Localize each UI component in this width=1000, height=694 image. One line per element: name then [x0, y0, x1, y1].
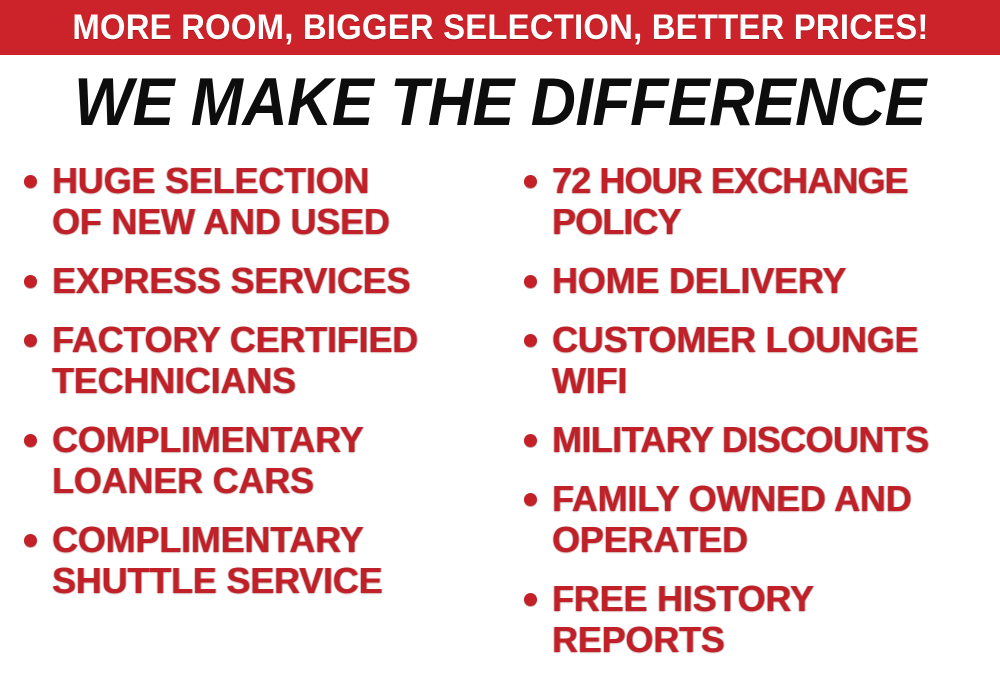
bullet-dot-icon [24, 275, 37, 288]
list-item: COMPLIMENTARY LOANER CARS [18, 419, 498, 501]
list-item: 72 HOUR EXCHANGE POLICY [518, 160, 1000, 242]
bullet-dot-icon [524, 334, 537, 347]
list-item-label: COMPLIMENTARY [52, 519, 498, 560]
benefits-column-left: HUGE SELECTION OF NEW AND USED EXPRESS S… [18, 160, 498, 619]
page-title: WE MAKE THE DIFFERENCE [74, 66, 926, 138]
bullet-dot-icon [524, 275, 537, 288]
list-item-label: EXPRESS SERVICES [52, 260, 498, 301]
bullet-dot-icon [524, 434, 537, 447]
bullet-dot-icon [524, 493, 537, 506]
list-item-label: MILITARY DISCOUNTS [552, 419, 1000, 460]
list-item-label: HUGE SELECTION [52, 160, 498, 201]
list-item-label: HOME DELIVERY [552, 260, 1000, 301]
headline-container: WE MAKE THE DIFFERENCE [0, 66, 1000, 138]
list-item-label-line2: OF NEW AND USED [52, 201, 498, 242]
list-item-label: FACTORY CERTIFIED [52, 319, 498, 360]
list-item: COMPLIMENTARY SHUTTLE SERVICE [18, 519, 498, 601]
list-item-label-line2: REPORTS [552, 619, 1000, 660]
list-item-label: CUSTOMER LOUNGE [552, 319, 1000, 360]
list-item: HUGE SELECTION OF NEW AND USED [18, 160, 498, 242]
bullet-dot-icon [524, 175, 537, 188]
header-banner-text: MORE ROOM, BIGGER SELECTION, BETTER PRIC… [72, 10, 928, 45]
benefits-columns: HUGE SELECTION OF NEW AND USED EXPRESS S… [0, 160, 1000, 694]
list-item: FAMILY OWNED AND OPERATED [518, 478, 1000, 560]
bullet-dot-icon [24, 534, 37, 547]
list-item-label: FAMILY OWNED AND [552, 478, 1000, 519]
list-item: HOME DELIVERY [518, 260, 1000, 301]
list-item-label-line2: SHUTTLE SERVICE [52, 560, 498, 601]
list-item-label-line2: TECHNICIANS [52, 360, 498, 401]
list-item: FACTORY CERTIFIED TECHNICIANS [18, 319, 498, 401]
bullet-dot-icon [24, 434, 37, 447]
benefits-column-right: 72 HOUR EXCHANGE POLICY HOME DELIVERY CU… [518, 160, 1000, 678]
list-item-label-line2: POLICY [552, 201, 1000, 242]
list-item-label: 72 HOUR EXCHANGE [552, 160, 1000, 201]
bullet-dot-icon [24, 175, 37, 188]
list-item: CUSTOMER LOUNGE WIFI [518, 319, 1000, 401]
list-item: EXPRESS SERVICES [18, 260, 498, 301]
header-banner-band: MORE ROOM, BIGGER SELECTION, BETTER PRIC… [0, 0, 1000, 55]
list-item-label-line2: LOANER CARS [52, 460, 498, 501]
bullet-dot-icon [524, 593, 537, 606]
list-item-label-line2: OPERATED [552, 519, 1000, 560]
list-item-label-line2: WIFI [552, 360, 1000, 401]
list-item-label: FREE HISTORY [552, 578, 1000, 619]
list-item-label: COMPLIMENTARY [52, 419, 498, 460]
list-item: FREE HISTORY REPORTS [518, 578, 1000, 660]
bullet-dot-icon [24, 334, 37, 347]
list-item: MILITARY DISCOUNTS [518, 419, 1000, 460]
promotional-banner: MORE ROOM, BIGGER SELECTION, BETTER PRIC… [0, 0, 1000, 694]
